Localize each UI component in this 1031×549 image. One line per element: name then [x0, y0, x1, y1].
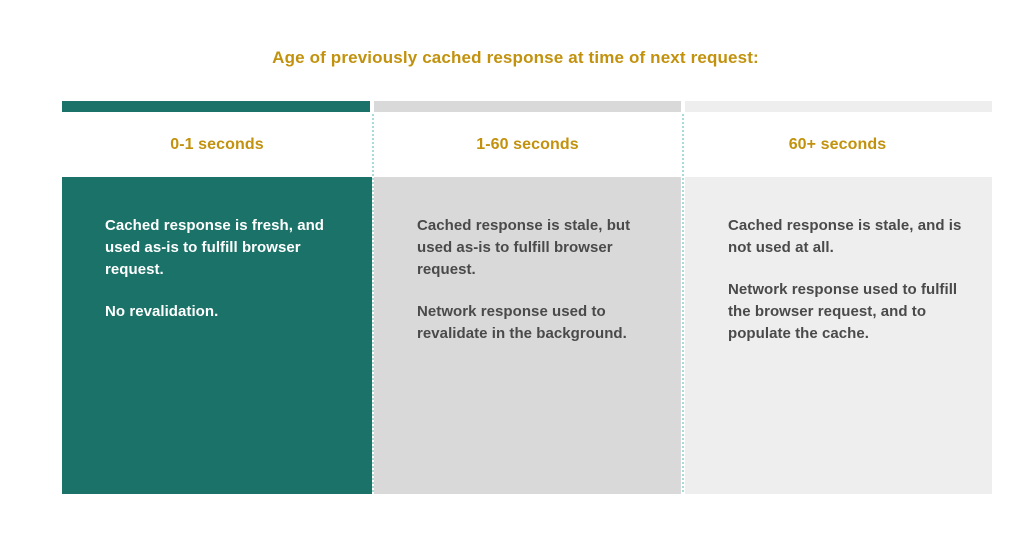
- column-body: Cached response is fresh, and used as-is…: [62, 177, 372, 494]
- comparison-table: 0-1 seconds Cached response is fresh, an…: [62, 101, 992, 494]
- column-paragraph: Network response used to revalidate in t…: [417, 301, 651, 345]
- column-paragraph: Cached response is stale, and is not use…: [728, 215, 962, 259]
- column-divider: [682, 114, 684, 492]
- column-header-label: 1-60 seconds: [476, 136, 579, 154]
- column-accent-bar: [62, 101, 370, 112]
- column-body: Cached response is stale, but used as-is…: [374, 177, 681, 494]
- column-header: 0-1 seconds: [62, 112, 372, 177]
- cache-age-diagram: Age of previously cached response at tim…: [0, 0, 1031, 549]
- column-header-label: 60+ seconds: [789, 136, 887, 154]
- column-60-plus-seconds: 60+ seconds Cached response is stale, an…: [683, 101, 992, 494]
- column-body: Cached response is stale, and is not use…: [685, 177, 992, 494]
- diagram-title: Age of previously cached response at tim…: [0, 48, 1031, 68]
- column-divider: [372, 114, 374, 492]
- column-1-60-seconds: 1-60 seconds Cached response is stale, b…: [372, 101, 683, 494]
- column-paragraph: Cached response is stale, but used as-is…: [417, 215, 651, 281]
- column-paragraph: Cached response is fresh, and used as-is…: [105, 215, 342, 281]
- column-accent-bar: [374, 101, 681, 112]
- column-header: 60+ seconds: [683, 112, 992, 177]
- column-0-1-seconds: 0-1 seconds Cached response is fresh, an…: [62, 101, 372, 494]
- column-paragraph: Network response used to fulfill the bro…: [728, 279, 962, 345]
- column-paragraph: No revalidation.: [105, 301, 342, 323]
- column-header-label: 0-1 seconds: [170, 136, 264, 154]
- column-header: 1-60 seconds: [372, 112, 683, 177]
- column-accent-bar: [685, 101, 992, 112]
